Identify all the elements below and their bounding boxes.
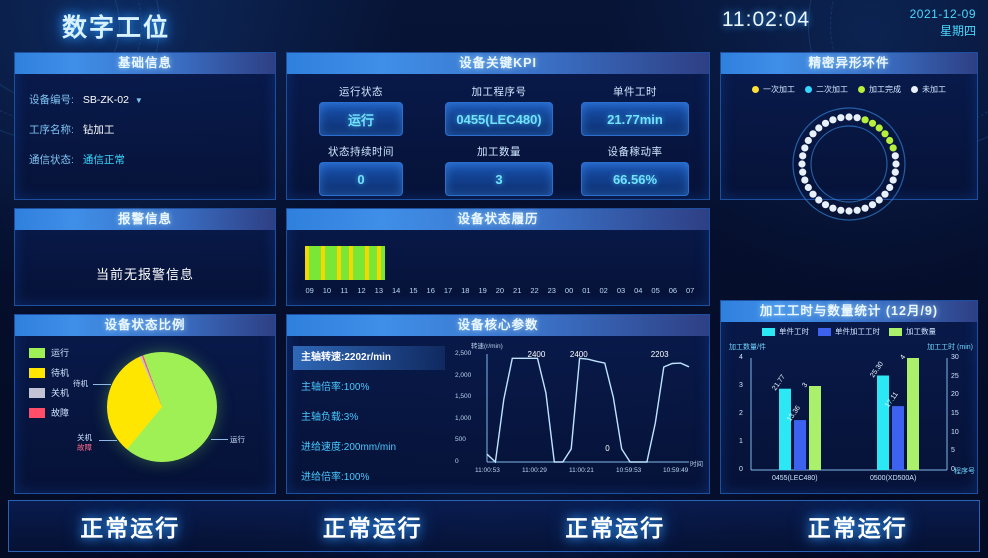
bar-left-tick: 2 [739, 410, 743, 417]
bar-ylabel-left: 加工数量/件 [729, 342, 766, 352]
kpi-value-duration: 0 [319, 162, 403, 196]
dashboard-root: 数字工位 11:02:04 2021-12-09 星期四 基础信息 设备编号: … [0, 0, 988, 558]
history-hour-tick: 06 [664, 286, 681, 295]
panel-title-status-history: 设备状态履历 [287, 209, 709, 230]
footer-status-cell-3: 正常运行 [737, 501, 980, 551]
history-hour-tick: 11 [336, 286, 353, 295]
history-hour-tick: 09 [301, 286, 318, 295]
ring-dot [876, 124, 883, 131]
legend-dot-icon [805, 86, 812, 93]
status-pie-body: 运行待机关机故障 待机 运行 关机 故障 [15, 336, 275, 493]
history-hour-tick: 13 [370, 286, 387, 295]
comm-status-value: 通信正常 [83, 154, 125, 166]
pie-legend-label: 关机 [51, 386, 69, 399]
legend-dot-icon [752, 86, 759, 93]
line-ytick: 500 [455, 436, 466, 443]
bar-rect [794, 420, 806, 470]
history-hour-tick: 03 [612, 286, 629, 295]
ring-dot [809, 130, 816, 137]
line-annotation: 0 [605, 444, 609, 453]
ring-dot [829, 205, 836, 212]
basic-info-row-comm: 通信状态: 通信正常 [29, 152, 125, 167]
panel-stats: 加工工时与数量统计 (12月/9) 单件工时单件加工工时加工数量 加工数量/件 … [720, 300, 978, 494]
footer-status-cell-2: 正常运行 [494, 501, 737, 551]
ring-dot [886, 137, 893, 144]
basic-info-row-process: 工序名称: 钻加工 [29, 122, 114, 137]
clock-time: 11:02:04 [722, 8, 810, 32]
current-weekday: 星期四 [910, 22, 976, 39]
bar-legend-label: 单件工时 [779, 326, 809, 337]
history-hour-tick: 07 [682, 286, 699, 295]
ring-dot [869, 201, 876, 208]
history-hour-tick: 19 [474, 286, 491, 295]
bar-legend-label: 加工数量 [906, 326, 936, 337]
stats-body: 单件工时单件加工工时加工数量 加工数量/件 加工工时 (min) 程序号 012… [721, 322, 977, 493]
bar-chart-legend: 单件工时单件加工工时加工数量 [721, 326, 977, 337]
ring-dot [892, 169, 899, 176]
kpi-label-count: 加工数量 [439, 144, 559, 159]
bar-left-tick: 0 [739, 466, 743, 473]
line-ytick: 1,500 [455, 393, 471, 400]
pie-legend-item-1[interactable]: 待机 [29, 366, 69, 379]
line-xtick: 10:59:49 [663, 467, 688, 474]
legend-swatch [762, 328, 775, 336]
ring-dot [892, 160, 899, 167]
history-hour-tick: 20 [491, 286, 508, 295]
pie-legend-item-3[interactable]: 故障 [29, 406, 69, 419]
kpi-value-unit-time: 21.77min [581, 102, 689, 136]
ring-dot [876, 196, 883, 203]
kpi-value-utilization: 66.56% [581, 162, 689, 196]
line-annotation: 2400 [528, 350, 546, 359]
pie-legend-label: 运行 [51, 346, 69, 359]
ring-dot [822, 201, 829, 208]
ring-dot [881, 130, 888, 137]
line-xtick: 11:00:29 [522, 467, 547, 474]
bar-category-label: 0455(LEC480) [772, 475, 818, 482]
ring-legend: 一次加工二次加工加工完成未加工 [721, 84, 977, 95]
bar-legend-item-2[interactable]: 加工数量 [889, 326, 936, 337]
bar-right-tick: 30 [951, 354, 959, 361]
ring-dot [805, 137, 812, 144]
device-id-value: SB-ZK-02 [83, 94, 129, 106]
line-ytick: 2,500 [455, 350, 471, 357]
ring-dot [861, 205, 868, 212]
panel-title-ring: 精密异形环件 [721, 53, 977, 74]
history-hour-tick: 04 [630, 286, 647, 295]
bar-rect [892, 406, 904, 470]
pie-callout-fault: 故障 [77, 442, 92, 453]
device-id-label: 设备编号: [29, 94, 74, 106]
ring-chart [789, 104, 909, 224]
ring-dot [845, 113, 852, 120]
pie-legend-item-2[interactable]: 关机 [29, 386, 69, 399]
bar-rect [779, 389, 791, 470]
basic-info-body: 设备编号: SB-ZK-02 ▼ 工序名称: 钻加工 通信状态: 通信正常 [15, 74, 275, 199]
bar-legend-label: 单件加工工时 [835, 326, 880, 337]
legend-swatch [29, 408, 45, 418]
current-date: 2021-12-09 [910, 7, 976, 21]
pie-legend-item-0[interactable]: 运行 [29, 346, 69, 359]
alarm-body: 当前无报警信息 [15, 230, 275, 305]
legend-swatch [818, 328, 831, 336]
ring-dot [829, 116, 836, 123]
ring-dot [861, 116, 868, 123]
history-segment [381, 246, 385, 280]
status-history-body: 0910111213141516171819202122230001020304… [287, 230, 709, 305]
ring-dot [798, 160, 805, 167]
ring-legend-item-1[interactable]: 二次加工 [805, 84, 848, 95]
ring-dot [809, 191, 816, 198]
history-hour-tick: 00 [560, 286, 577, 295]
ring-dot [801, 176, 808, 183]
bar-rect [877, 376, 889, 471]
ring-dot [854, 207, 861, 214]
kpi-label-run-state: 运行状态 [301, 84, 421, 99]
ring-legend-item-0[interactable]: 一次加工 [752, 84, 795, 95]
ring-dot [854, 114, 861, 121]
pie-legend-label: 故障 [51, 406, 69, 419]
ring-dot [890, 144, 897, 151]
core-param-item-1[interactable]: 主轴倍率:100% [293, 376, 445, 400]
panel-key-kpi: 设备关键KPI 运行状态 加工程序号 单件工时 运行 0455(LEC480) … [286, 52, 710, 200]
history-hour-tick: 17 [439, 286, 456, 295]
core-param-item-3[interactable]: 进给速度:200mm/min [293, 436, 445, 460]
panel-core-params: 设备核心参数 主轴转速:2202r/min主轴倍率:100%主轴负载:3%进给速… [286, 314, 710, 494]
ring-dot [815, 124, 822, 131]
legend-swatch [29, 348, 45, 358]
kpi-label-program: 加工程序号 [439, 84, 559, 99]
bar-right-tick: 15 [951, 410, 959, 417]
line-ytick: 0 [455, 458, 459, 465]
bar-xlabel: 程序号 [954, 466, 975, 476]
footer-status-cell-0: 正常运行 [9, 501, 252, 551]
bar-left-tick: 4 [739, 354, 743, 361]
bar-right-tick: 5 [951, 447, 955, 454]
ring-dot [892, 152, 899, 159]
history-hour-tick: 15 [405, 286, 422, 295]
ring-dot [837, 207, 844, 214]
ring-dot [801, 144, 808, 151]
ring-dot [799, 152, 806, 159]
bar-legend-item-1[interactable]: 单件加工工时 [818, 326, 880, 337]
legend-swatch [889, 328, 902, 336]
ring-legend-label: 一次加工 [763, 84, 795, 95]
kpi-label-utilization: 设备稼动率 [575, 144, 695, 159]
panel-status-history: 设备状态履历 091011121314151617181920212223000… [286, 208, 710, 306]
line-xtick: 10:59:53 [616, 467, 641, 474]
date-block: 2021-12-09 星期四 [910, 7, 976, 39]
pie-callout-standby: 待机 [73, 378, 88, 389]
panel-title-kpi: 设备关键KPI [287, 53, 709, 74]
ring-dot [805, 184, 812, 191]
legend-dot-icon [911, 86, 918, 93]
ring-legend-label: 加工完成 [869, 84, 901, 95]
history-hour-tick: 14 [387, 286, 404, 295]
pie-leader-standby [93, 384, 111, 385]
chevron-down-icon[interactable]: ▼ [135, 96, 143, 105]
ring-legend-item-2[interactable]: 加工完成 [858, 84, 901, 95]
status-history-bars[interactable] [305, 246, 385, 280]
line-ytick: 2,000 [455, 372, 471, 379]
panel-title-core-params: 设备核心参数 [287, 315, 709, 336]
comm-status-label: 通信状态: [29, 154, 74, 166]
stats-bar-chart: 加工数量/件 加工工时 (min) 程序号 01234 051015202530… [721, 340, 979, 490]
ring-dot [845, 207, 852, 214]
bar-chart-svg [721, 340, 979, 490]
history-hour-tick: 02 [595, 286, 612, 295]
status-history-axis: 0910111213141516171819202122230001020304… [301, 286, 699, 295]
line-xtick: 11:00:53 [475, 467, 500, 474]
kpi-label-unit-time: 单件工时 [575, 84, 695, 99]
bar-rect [907, 358, 919, 470]
core-param-item-0[interactable]: 主轴转速:2202r/min [293, 346, 445, 370]
ring-dot [815, 196, 822, 203]
history-hour-tick: 16 [422, 286, 439, 295]
pie-leader-run [211, 439, 228, 440]
panel-title-status-pie: 设备状态比例 [15, 315, 275, 336]
history-hour-tick: 10 [318, 286, 335, 295]
footer-status-cell-1: 正常运行 [252, 501, 495, 551]
bar-left-tick: 3 [739, 382, 743, 389]
process-name-label: 工序名称: [29, 124, 74, 136]
bar-right-tick: 10 [951, 429, 959, 436]
line-chart-ylabel: 转速(r/min) [471, 340, 503, 350]
bar-right-tick: 0 [951, 466, 955, 473]
header-bar: 数字工位 11:02:04 2021-12-09 星期四 [0, 0, 988, 46]
process-name-value: 钻加工 [83, 124, 115, 136]
core-param-item-2[interactable]: 主轴负载:3% [293, 406, 445, 430]
kpi-value-program: 0455(LEC480) [445, 102, 553, 136]
bar-legend-item-0[interactable]: 单件工时 [762, 326, 809, 337]
legend-swatch [29, 388, 45, 398]
panel-alarm: 报警信息 当前无报警信息 [14, 208, 276, 306]
pie-legend: 运行待机关机故障 [29, 346, 69, 426]
pie-chart [107, 352, 217, 462]
bar-ylabel-right: 加工工时 (min) [927, 342, 973, 352]
ring-dot [869, 120, 876, 127]
spindle-speed-chart: 转速(r/min) 时间 05001,0001,5002,0002,500 11… [453, 340, 705, 490]
history-hour-tick: 22 [526, 286, 543, 295]
panel-title-basic-info: 基础信息 [15, 53, 275, 74]
history-hour-tick: 23 [543, 286, 560, 295]
footer-status-bar: 正常运行正常运行正常运行正常运行 [8, 500, 980, 552]
ring-legend-label: 未加工 [922, 84, 946, 95]
alarm-message: 当前无报警信息 [15, 264, 275, 283]
ring-dot [886, 184, 893, 191]
bar-left-tick: 1 [739, 438, 743, 445]
history-hour-tick: 12 [353, 286, 370, 295]
panel-title-alarm: 报警信息 [15, 209, 275, 230]
ring-legend-item-3[interactable]: 未加工 [911, 84, 946, 95]
line-ytick: 1,000 [455, 415, 471, 422]
kpi-value-run-state: 运行 [319, 102, 403, 136]
pie-disc [107, 352, 217, 462]
legend-dot-icon [858, 86, 865, 93]
ring-legend-label: 二次加工 [816, 84, 848, 95]
line-chart-xlabel: 时间 [690, 458, 703, 468]
bar-right-tick: 20 [951, 391, 959, 398]
basic-info-row-device[interactable]: 设备编号: SB-ZK-02 ▼ [29, 92, 143, 107]
pie-leader-off [99, 440, 117, 441]
pie-legend-label: 待机 [51, 366, 69, 379]
bar-category-label: 0500(XD500A) [870, 475, 916, 482]
core-param-item-4[interactable]: 进给倍率:100% [293, 466, 445, 490]
core-params-body: 主轴转速:2202r/min主轴倍率:100%主轴负载:3%进给速度:200mm… [287, 336, 709, 493]
page-title: 数字工位 [62, 8, 170, 44]
ring-body: 一次加工二次加工加工完成未加工 [721, 74, 977, 199]
ring-dot [890, 176, 897, 183]
ring-dot [881, 191, 888, 198]
kpi-body: 运行状态 加工程序号 单件工时 运行 0455(LEC480) 21.77min… [287, 74, 709, 199]
panel-precision-ring: 精密异形环件 一次加工二次加工加工完成未加工 [720, 52, 978, 200]
history-hour-tick: 01 [578, 286, 595, 295]
legend-swatch [29, 368, 45, 378]
line-annotation: 2400 [570, 350, 588, 359]
ring-dot [837, 114, 844, 121]
panel-basic-info: 基础信息 设备编号: SB-ZK-02 ▼ 工序名称: 钻加工 通信状态: 通信… [14, 52, 276, 200]
history-hour-tick: 05 [647, 286, 664, 295]
history-hour-tick: 18 [457, 286, 474, 295]
ring-dot [822, 120, 829, 127]
ring-dot [799, 169, 806, 176]
panel-status-pie: 设备状态比例 运行待机关机故障 待机 运行 关机 故障 [14, 314, 276, 494]
kpi-label-duration: 状态持续时间 [301, 144, 421, 159]
panel-title-stats: 加工工时与数量统计 (12月/9) [721, 301, 977, 322]
bar-right-tick: 25 [951, 373, 959, 380]
kpi-value-count: 3 [445, 162, 553, 196]
history-hour-tick: 21 [509, 286, 526, 295]
pie-callout-run: 运行 [230, 434, 245, 445]
line-xtick: 11:00:21 [569, 467, 594, 474]
bar-rect [809, 386, 821, 470]
line-annotation: 2203 [651, 350, 669, 359]
ring-chart-svg [789, 104, 909, 224]
